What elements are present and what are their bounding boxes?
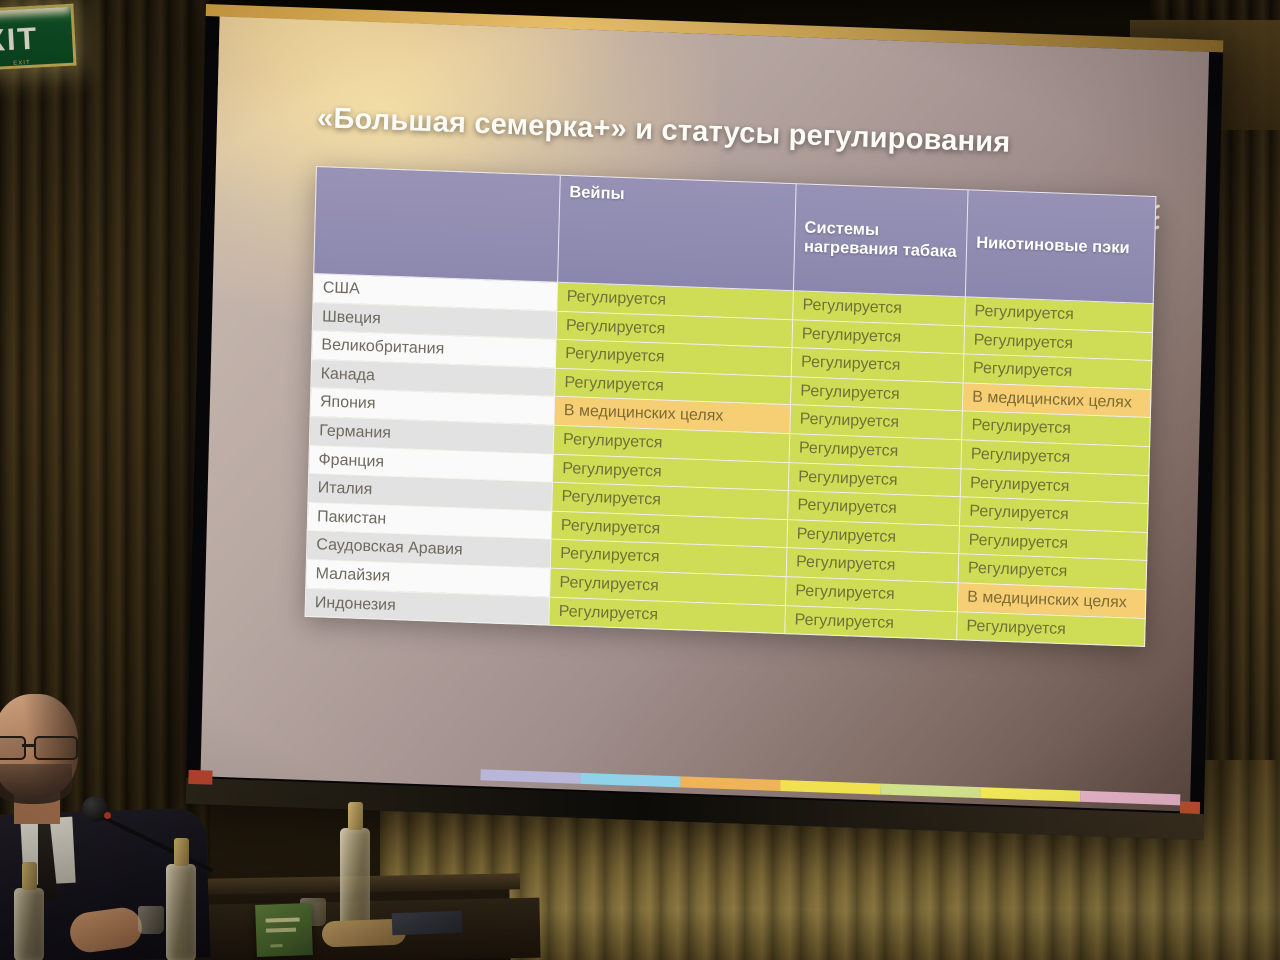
regulation-table-wrapper: Вейпы Системы нагревания табака Никотино…	[305, 166, 1156, 647]
accent-strip-segment	[580, 773, 680, 788]
column-header-heated-tobacco: Системы нагревания табака	[793, 184, 968, 297]
name-card-line	[266, 928, 296, 933]
accent-strip-segment	[1080, 791, 1180, 806]
microphone-ring	[104, 812, 111, 819]
table-body: СШАРегулируетсяРегулируетсяРегулируетсяШ…	[305, 274, 1153, 647]
water-bottle	[166, 864, 196, 960]
accent-strip-segment	[880, 784, 980, 799]
speaker-glasses	[0, 736, 86, 756]
exit-sign: XIT EXIT	[0, 4, 77, 71]
exit-sign-sublabel: EXIT	[13, 60, 31, 67]
accent-strip-segment	[780, 780, 880, 795]
screen-clip-right	[1180, 801, 1200, 814]
microphone-head	[82, 796, 108, 822]
column-header-vapes: Вейпы	[558, 175, 797, 290]
drinking-glass	[138, 906, 164, 934]
accent-strip-segment	[980, 787, 1080, 802]
bottle-cap	[22, 862, 37, 890]
accent-strip-segment	[680, 776, 780, 791]
speaker-beard	[0, 764, 72, 804]
name-card-line	[270, 944, 282, 947]
cell-heated-tobacco-status: Регулируется	[785, 605, 958, 640]
document-on-desk	[392, 911, 463, 935]
regulation-table: Вейпы Системы нагревания табака Никотино…	[305, 166, 1157, 647]
water-bottle	[14, 888, 44, 960]
bottle-cap	[348, 802, 363, 830]
bottle-cap	[174, 838, 189, 866]
name-card-line	[266, 917, 300, 922]
column-header-country	[314, 167, 561, 283]
glasses-lens-left	[0, 736, 26, 760]
column-header-nicotine-pouches: Никотиновые пэки	[965, 190, 1156, 304]
exit-sign-label: XIT	[0, 19, 75, 60]
speaker-name-card	[255, 903, 313, 957]
glasses-bridge	[22, 744, 35, 747]
cell-nicotine-pouch-status: Регулируется	[957, 611, 1146, 646]
conference-room-photo: XIT EXIT «Большая семерка+» и статусы ре…	[0, 0, 1280, 960]
presentation-slide: «Большая семерка+» и статусы регулирован…	[200, 16, 1209, 811]
glasses-lens-right	[34, 736, 78, 760]
projection-screen: «Большая семерка+» и статусы регулирован…	[186, 4, 1224, 840]
slide-title: «Большая семерка+» и статусы регулирован…	[317, 102, 1077, 162]
accent-strip-segment	[480, 769, 580, 784]
